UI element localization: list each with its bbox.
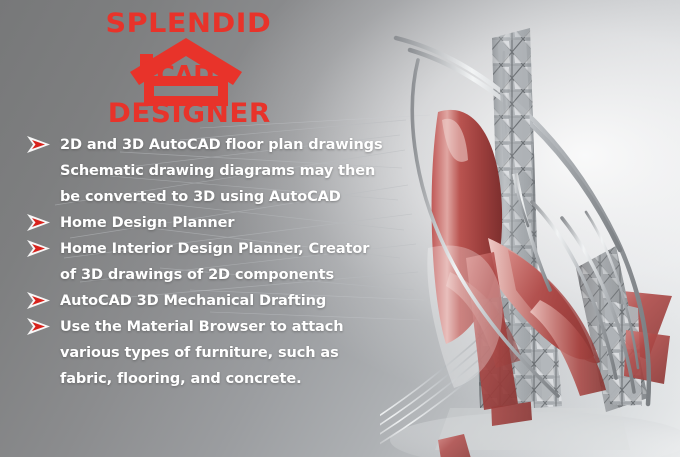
- brand-logo: SPLENDID CAD DESIGNER: [110, 8, 260, 130]
- abstract-3d-sculpture: [380, 0, 680, 457]
- poster-root: SPLENDID CAD DESIGNER 2D and 3D AutoCAD …: [0, 0, 680, 457]
- chevron-arrow-bullet-icon: [26, 135, 52, 154]
- list-item: Home Interior Design Planner, Creator of…: [24, 236, 396, 288]
- feature-text: various types of furniture, such as: [60, 340, 396, 366]
- logo-bottom-word: DESIGNER: [108, 100, 263, 127]
- feature-text: Home Interior Design Planner, Creator: [60, 236, 396, 262]
- list-item: Use the Material Browser to attach vario…: [24, 314, 396, 392]
- feature-text: 2D and 3D AutoCAD floor plan drawings: [60, 132, 396, 158]
- list-item: AutoCAD 3D Mechanical Drafting: [24, 288, 396, 314]
- feature-text: be converted to 3D using AutoCAD: [60, 184, 396, 210]
- chevron-arrow-bullet-icon: [26, 213, 52, 232]
- chevron-arrow-bullet-icon: [26, 239, 52, 258]
- feature-text: Use the Material Browser to attach: [60, 314, 396, 340]
- logo-top-word: SPLENDID: [106, 10, 265, 37]
- list-item: 2D and 3D AutoCAD floor plan drawings Sc…: [24, 132, 396, 210]
- chevron-arrow-bullet-icon: [26, 317, 52, 336]
- chevron-arrow-bullet-icon: [26, 291, 52, 310]
- feature-text: fabric, flooring, and concrete.: [60, 366, 396, 392]
- logo-cad-word: CAD: [110, 60, 260, 89]
- feature-text: of 3D drawings of 2D components: [60, 262, 396, 288]
- feature-text: Schematic drawing diagrams may then: [60, 158, 396, 184]
- feature-text: Home Design Planner: [60, 210, 396, 236]
- feature-text: AutoCAD 3D Mechanical Drafting: [60, 288, 396, 314]
- feature-list: 2D and 3D AutoCAD floor plan drawings Sc…: [24, 132, 396, 392]
- list-item: Home Design Planner: [24, 210, 396, 236]
